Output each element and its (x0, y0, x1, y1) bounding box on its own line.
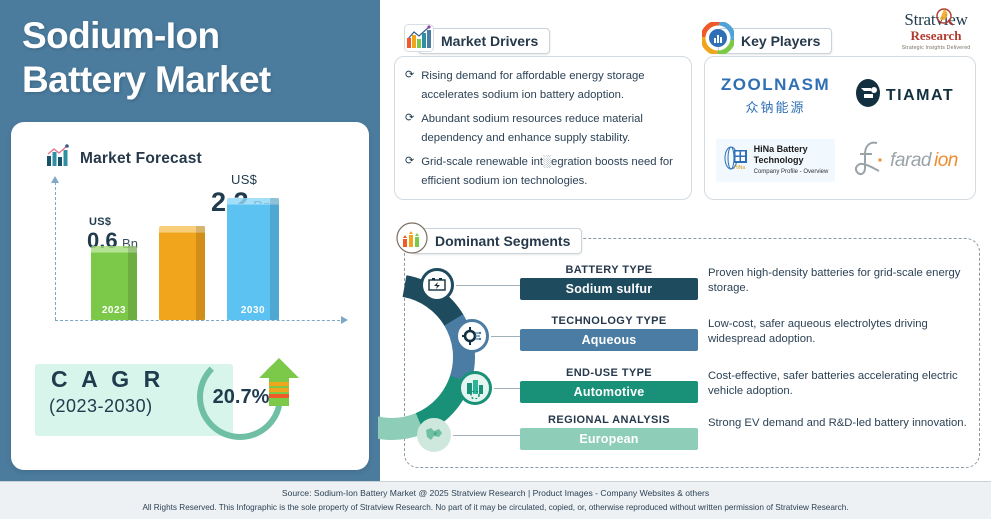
dominant-segments-header: Dominant Segments (396, 222, 582, 259)
segment-row-enduse: END-USE TYPE Automotive Cost-effective, … (520, 367, 975, 411)
segment-connector (456, 285, 522, 286)
logo-faradion: farad ion (851, 138, 958, 183)
cagr-block: C A G R (2023-2030) 20.7% (35, 354, 345, 446)
segment-row-technology: TECHNOLOGY TYPE Aqueous Low-cost, safer … (520, 315, 975, 359)
tiamat-mark-icon (855, 78, 881, 113)
bar-2023: 2023 (91, 252, 137, 320)
logo-zoolnasm-name: ZOOLNASM (721, 75, 830, 95)
bar-middle (159, 232, 205, 320)
segment-description: Proven high-density batteries for grid-s… (708, 266, 976, 296)
market-driver-item: ⟳ Grid-scale renewable int░egration boos… (405, 153, 685, 191)
market-driver-item: ⟳ Rising demand for affordable energy st… (405, 67, 685, 105)
pie-chart-icon (702, 22, 734, 59)
logo-hina-sub: Technology (754, 155, 829, 166)
bar-2030-side (270, 198, 279, 320)
segment-connector (494, 388, 522, 389)
logo-faradion-name-a: farad (890, 150, 931, 172)
cagr-label: C A G R (51, 366, 164, 393)
key-players-title: Key Players (718, 28, 832, 54)
segment-description: Strong EV demand and R&D-led battery inn… (708, 416, 976, 431)
segment-value-badge: Sodium sulfur (520, 278, 698, 300)
stratview-logo: Stratview Research Strategic Insights De… (886, 10, 986, 51)
bar-chart-icon (45, 144, 71, 173)
market-driver-text: Grid-scale renewable int░egration boosts… (421, 153, 685, 191)
key-players-header: Key Players (702, 22, 832, 59)
battery-icon (427, 276, 447, 294)
logo-zoolnasm: ZOOLNASM 众钠能源 (721, 75, 830, 116)
refresh-bullet-icon: ⟳ (405, 153, 414, 191)
page-title: Sodium-Ion Battery Market (22, 14, 362, 102)
segment-icon-battery (420, 268, 454, 302)
segment-description: Low-cost, safer aqueous electrolytes dri… (708, 317, 976, 347)
logo-hina: HiNa HiNa Battery Technology Company Pro… (716, 139, 836, 182)
logo-hina-caption: Company Profile - Overview (754, 167, 829, 177)
segment-category-label: REGIONAL ANALYSIS (520, 414, 698, 426)
market-forecast-title: Market Forecast (80, 150, 202, 168)
market-drivers-title: Market Drivers (418, 28, 550, 54)
segment-icon-regional (417, 418, 451, 452)
y-axis-arrow-icon (51, 176, 59, 183)
svg-text:HiNa: HiNa (734, 165, 745, 171)
market-drivers-box: ⟳ Rising demand for affordable energy st… (394, 56, 692, 200)
market-driver-text: Abundant sodium resources reduce materia… (421, 110, 685, 148)
chart-y-axis (55, 182, 56, 320)
market-drivers-header: Market Drivers (404, 24, 550, 57)
segment-connector (453, 435, 522, 436)
market-forecast-header: Market Forecast (45, 144, 202, 173)
chart-x-axis (55, 320, 345, 321)
factory-icon (464, 377, 486, 399)
bar-chart-icon (404, 24, 434, 57)
segment-description: Cost-effective, safer batteries accelera… (708, 369, 976, 399)
segment-value-badge: Aqueous (520, 329, 698, 351)
infographic-root: Sodium-Ion Battery Market Market Forecas… (0, 0, 991, 519)
footer-rights-line: All Rights Reserved. This Infographic is… (0, 500, 991, 515)
logo-tiamat-name: TIAMAT (886, 87, 954, 105)
cagr-period: (2023-2030) (49, 396, 153, 417)
segment-icon-enduse (458, 371, 492, 405)
segment-value-badge: European (520, 428, 698, 450)
refresh-bullet-icon: ⟳ (405, 110, 414, 148)
brand-tagline: Strategic Insights Delivered (886, 45, 986, 51)
gear-tech-icon (462, 326, 482, 346)
growth-chart-icon (396, 222, 428, 259)
market-driver-text: Rising demand for affordable energy stor… (421, 67, 685, 105)
bar-label-2030: 2030 (227, 305, 279, 316)
europe-map-icon (422, 424, 446, 446)
bar-currency-2023: US$ (89, 216, 138, 228)
segment-category-label: END-USE TYPE (520, 367, 698, 379)
title-line-1: Sodium-Ion (22, 14, 362, 58)
segment-row-battery: BATTERY TYPE Sodium sulfur Proven high-d… (520, 264, 975, 308)
market-driver-item: ⟳ Abundant sodium resources reduce mater… (405, 110, 685, 148)
bar-middle-side (196, 226, 205, 320)
market-drivers-list: ⟳ Rising demand for affordable energy st… (405, 67, 685, 196)
refresh-bullet-icon: ⟳ (405, 67, 414, 105)
segment-category-label: BATTERY TYPE (520, 264, 698, 276)
x-axis-arrow-icon (341, 316, 348, 324)
forecast-bar-chart: US$ 0.6 Bn US$ 2.2 Bn 2023 2030 (31, 180, 351, 330)
bar-2030: 2030 (227, 204, 279, 320)
segment-connector (491, 336, 522, 337)
key-players-box: ZOOLNASM 众钠能源 TIAMAT (704, 56, 976, 200)
logo-faradion-name-b: ion (934, 150, 958, 172)
segment-icon-technology (455, 319, 489, 353)
segment-row-regional: REGIONAL ANALYSIS European Strong EV dem… (520, 414, 975, 458)
dominant-segments-title: Dominant Segments (412, 228, 582, 254)
footer-source-line: Source: Sodium-Ion Battery Market @ 2025… (0, 486, 991, 500)
up-arrow-icon (257, 356, 301, 417)
segment-category-label: TECHNOLOGY TYPE (520, 315, 698, 327)
bar-currency-2030: US$ (231, 172, 271, 187)
market-forecast-card: Market Forecast US$ 0.6 Bn US$ 2.2 Bn 20… (11, 122, 369, 470)
footer: Source: Sodium-Ion Battery Market @ 2025… (0, 481, 991, 519)
logo-zoolnasm-sub: 众钠能源 (721, 97, 830, 116)
hina-mark-icon: HiNa (723, 145, 749, 176)
bar-label-2023: 2023 (91, 305, 137, 316)
faradion-mark-icon (851, 138, 887, 183)
logo-tiamat: TIAMAT (855, 78, 954, 113)
logo-hina-name: HiNa Battery (754, 144, 829, 155)
title-line-2: Battery Market (22, 58, 362, 102)
segment-value-badge: Automotive (520, 381, 698, 403)
hina-text-block: HiNa Battery Technology Company Profile … (754, 144, 829, 177)
brand-mark-icon (934, 6, 954, 31)
